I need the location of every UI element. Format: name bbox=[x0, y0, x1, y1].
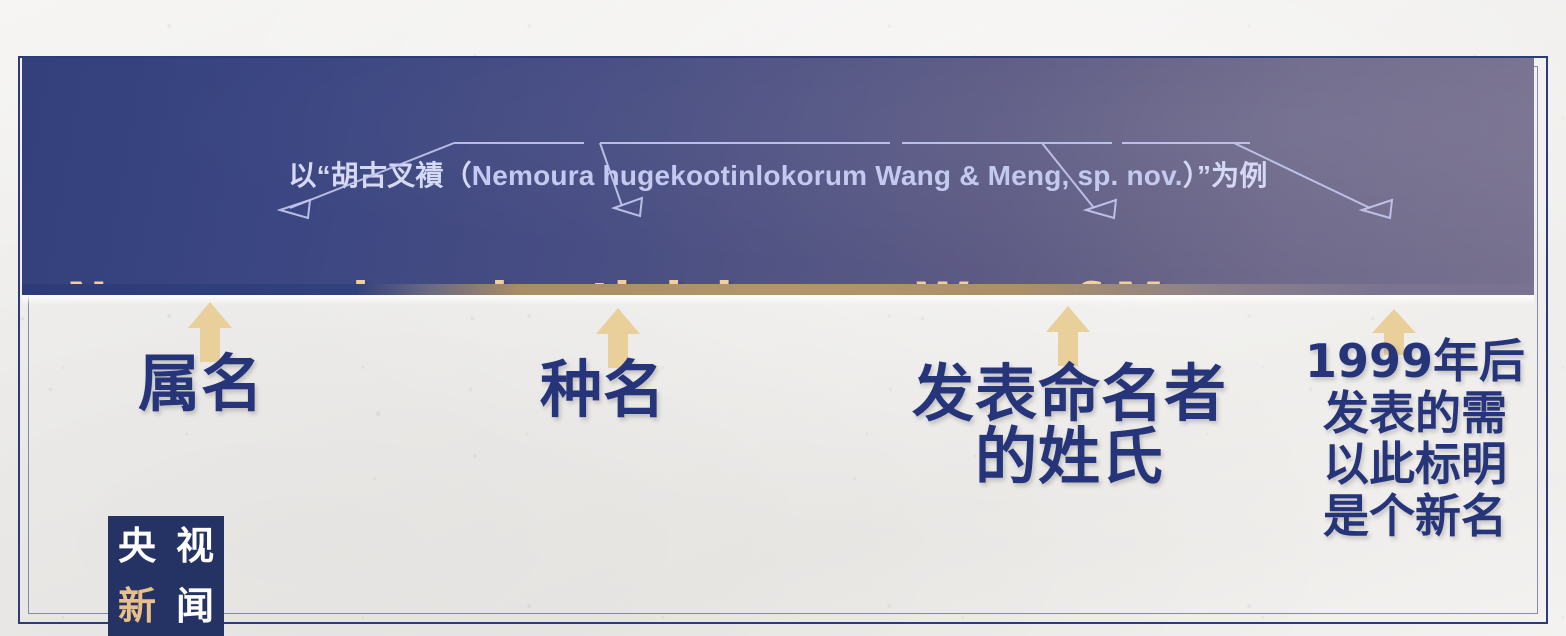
accent-bar bbox=[22, 284, 1534, 295]
annotation-authors-line2: 的姓氏 bbox=[975, 420, 1164, 493]
annotation-marker-line4: 是个新名 bbox=[1323, 489, 1507, 543]
connector-authors bbox=[1042, 143, 1094, 208]
logo-char-1: 央 bbox=[118, 527, 156, 565]
connector-marker bbox=[1234, 143, 1370, 208]
annotation-marker-line2: 发表的需 bbox=[1323, 386, 1507, 440]
connector-genus bbox=[290, 143, 454, 208]
annotation-species: 种名 bbox=[540, 358, 666, 421]
annotation-genus: 属名 bbox=[138, 352, 264, 415]
arrowhead-marker bbox=[1362, 200, 1392, 218]
connector-lines-group bbox=[22, 58, 1534, 290]
annotation-species-text: 种名 bbox=[540, 353, 666, 426]
annotation-marker-line1: 1999年后 bbox=[1305, 334, 1525, 388]
cctv-news-logo: 央 视 新 闻 bbox=[108, 516, 224, 636]
annotation-genus-text: 属名 bbox=[138, 347, 264, 420]
header-gradient-panel: 以“胡古叉襀（Nemoura hugekootinlokorum Wang & … bbox=[22, 58, 1534, 290]
connector-species bbox=[600, 143, 622, 206]
arrowhead-species bbox=[614, 198, 642, 216]
annotation-marker: 1999年后发表的需以此标明是个新名 bbox=[1305, 336, 1525, 542]
annotation-marker-line3: 以此标明 bbox=[1323, 437, 1507, 491]
logo-char-2: 视 bbox=[176, 527, 214, 565]
logo-char-3: 新 bbox=[118, 587, 156, 625]
annotation-authors-line1: 发表命名者 bbox=[912, 357, 1227, 430]
accent-bar-highlight bbox=[22, 295, 1534, 305]
annotation-authors: 发表命名者的姓氏 bbox=[912, 362, 1227, 488]
logo-char-4: 闻 bbox=[176, 587, 214, 625]
